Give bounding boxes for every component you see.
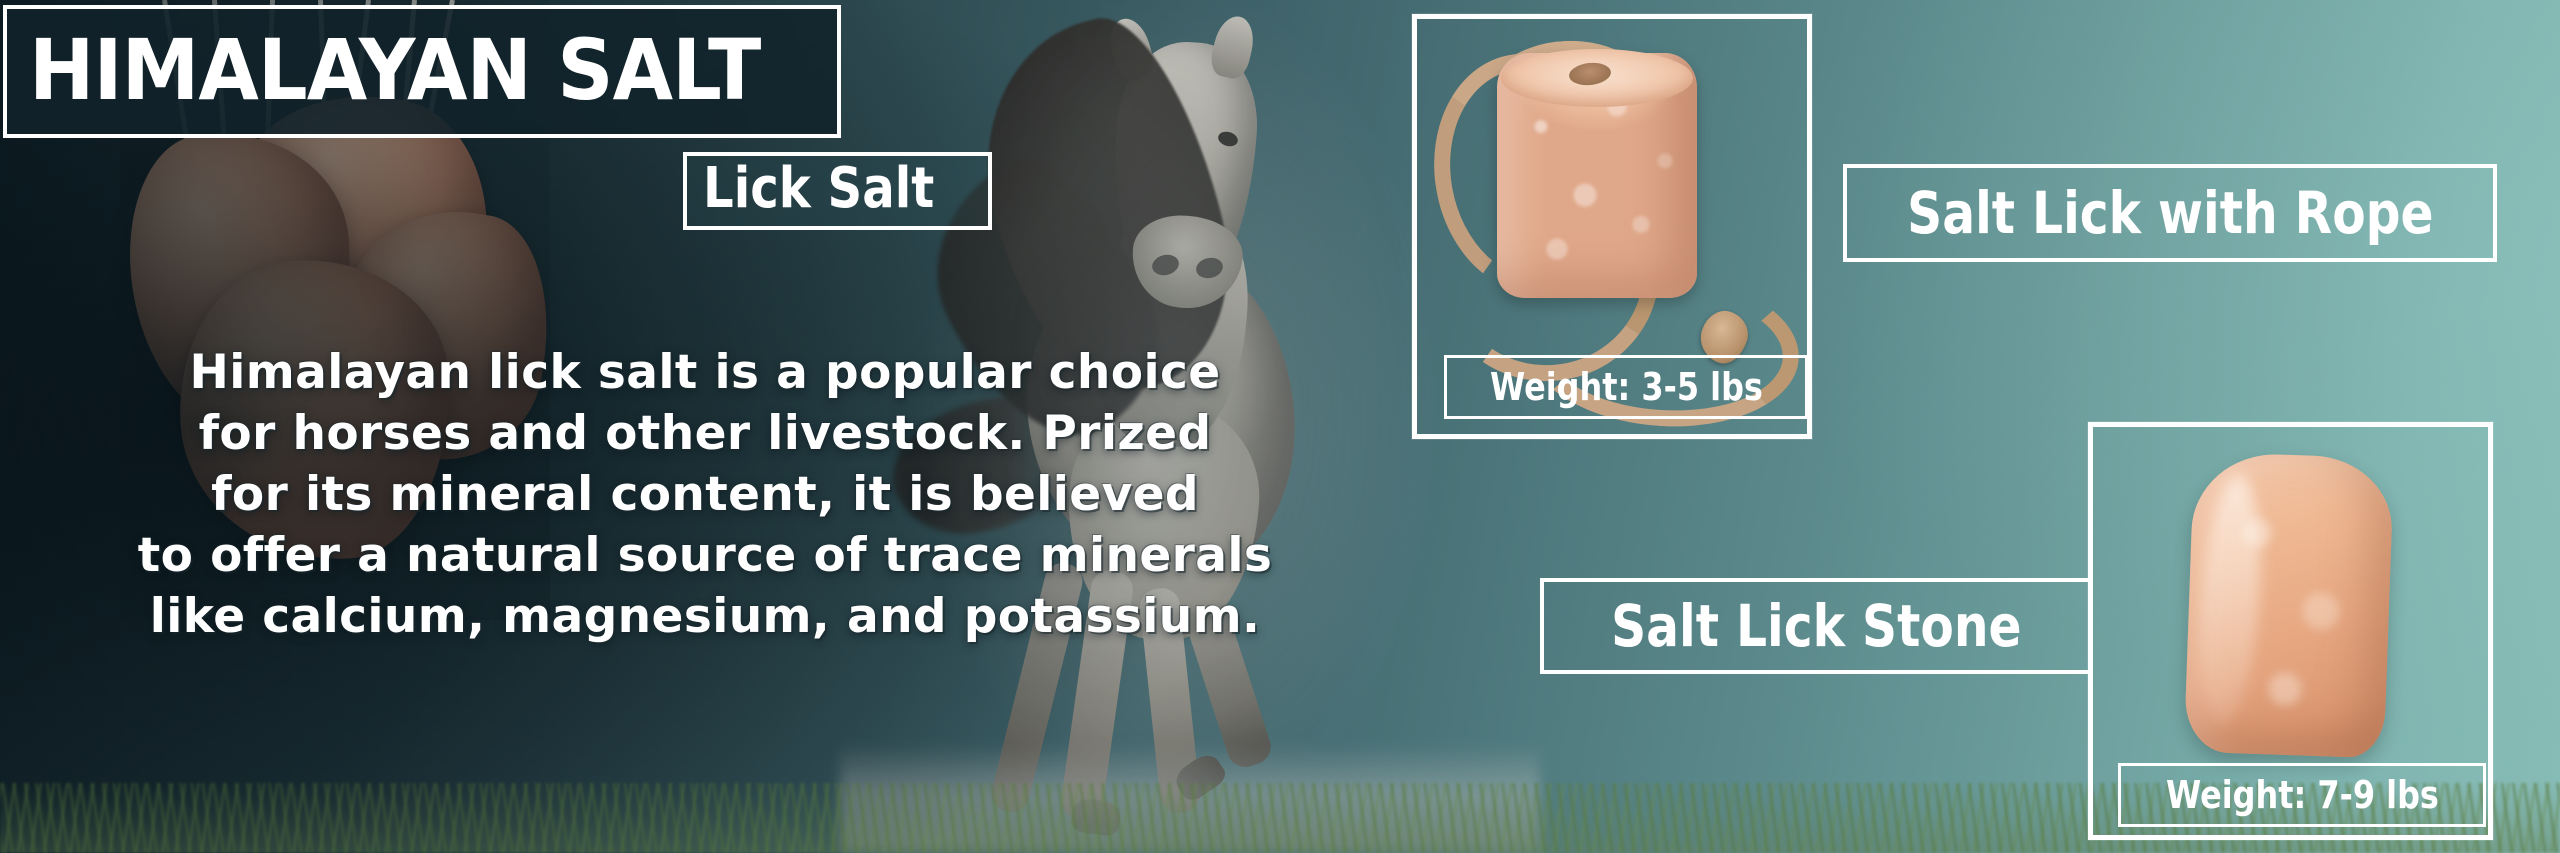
weight-label: Weight: 7-9 lbs [2166, 776, 2439, 814]
product-title-label: Salt Lick with Rope [1907, 184, 2433, 242]
weight-label: Weight: 3-5 lbs [1490, 368, 1763, 406]
weight-badge-salt-lick-with-rope: Weight: 3-5 lbs [1444, 355, 1808, 419]
salt-stone-texture [2189, 455, 2389, 755]
page-title: HIMALAYAN SALT [3, 5, 841, 138]
subtitle-box: Lick Salt [683, 152, 992, 230]
page-title-text: HIMALAYAN SALT [29, 28, 760, 112]
product-title-label: Salt Lick Stone [1611, 597, 2021, 655]
weight-badge-salt-lick-stone: Weight: 7-9 lbs [2118, 763, 2486, 827]
body-paragraph: Himalayan lick salt is a popular choice … [40, 342, 1370, 647]
himalayan-salt-banner: HIMALAYAN SALT Lick Salt Himalayan lick … [0, 0, 2560, 853]
subtitle-text: Lick Salt [703, 161, 934, 217]
product-title-salt-lick-with-rope: Salt Lick with Rope [1843, 164, 2497, 262]
product-title-salt-lick-stone: Salt Lick Stone [1540, 578, 2092, 674]
